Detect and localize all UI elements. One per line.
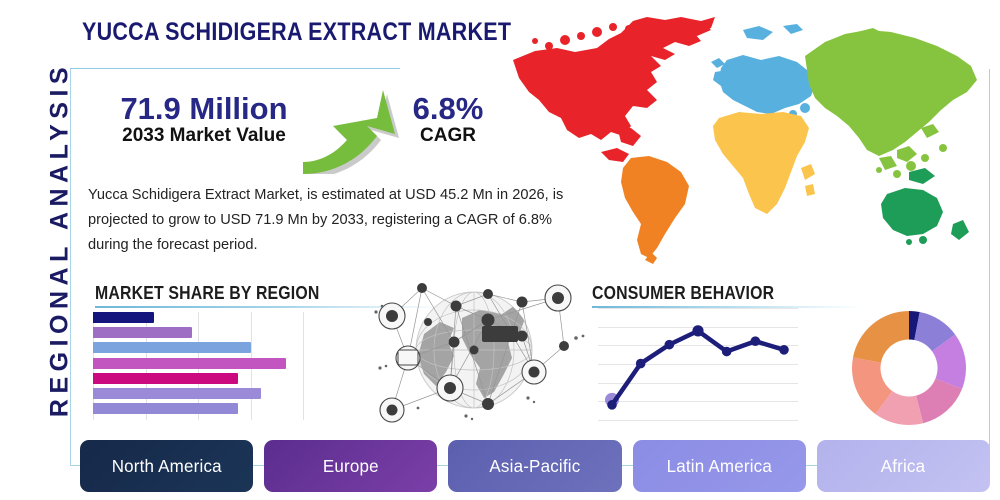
network-globe-users-icon bbox=[362, 276, 590, 428]
bar-fill bbox=[93, 403, 238, 414]
region-tab-label: North America bbox=[112, 456, 222, 477]
map-region-south-america bbox=[621, 156, 689, 264]
region-tab-africa[interactable]: Africa bbox=[817, 440, 990, 492]
bar-fill bbox=[93, 342, 251, 353]
bar-chart-bar bbox=[93, 327, 192, 338]
bar-fill bbox=[93, 358, 286, 369]
bar-chart-bar bbox=[93, 358, 286, 369]
region-tab-north-america[interactable]: North America bbox=[80, 440, 253, 492]
page-title: YUCCA SCHIDIGERA EXTRACT MARKET bbox=[82, 18, 511, 47]
kpi-market-value-caption: 2033 Market Value bbox=[88, 125, 320, 147]
region-tabs[interactable]: North AmericaEuropeAsia-PacificLatin Ame… bbox=[80, 440, 990, 492]
region-tab-label: Africa bbox=[881, 456, 926, 477]
map-region-oceania bbox=[881, 168, 969, 245]
bar-chart-bar bbox=[93, 403, 238, 414]
consumer-behavior-line-chart bbox=[598, 308, 798, 420]
region-tab-latin-america[interactable]: Latin America bbox=[633, 440, 806, 492]
bar-fill bbox=[93, 373, 238, 384]
line-data-point bbox=[607, 400, 617, 410]
bar-chart-bar bbox=[93, 342, 251, 353]
map-region-asia bbox=[805, 28, 977, 178]
region-tab-label: Latin America bbox=[667, 456, 772, 477]
vertical-side-label: REGIONAL ANALYSIS bbox=[0, 0, 62, 500]
region-tab-label: Europe bbox=[323, 456, 379, 477]
line-chart-series bbox=[598, 308, 798, 420]
kpi-row: 71.9 Million 2033 Market Value 6.8% CAGR bbox=[88, 92, 508, 172]
bar-fill bbox=[93, 327, 192, 338]
world-map-icon bbox=[505, 8, 995, 273]
map-region-europe bbox=[711, 24, 815, 118]
line-data-point bbox=[636, 359, 646, 369]
region-tab-europe[interactable]: Europe bbox=[264, 440, 437, 492]
donut-chart-slices bbox=[848, 307, 970, 429]
growth-arrow-up-icon bbox=[300, 82, 408, 174]
kpi-market-value: 71.9 Million 2033 Market Value bbox=[88, 92, 320, 147]
bar-gridline bbox=[303, 312, 304, 420]
map-region-africa bbox=[713, 112, 815, 214]
line-data-point bbox=[665, 340, 675, 350]
region-tab-asia-pacific[interactable]: Asia-Pacific bbox=[448, 440, 621, 492]
market-share-bar-chart bbox=[93, 312, 303, 420]
section-header-consumer-behavior: CONSUMER BEHAVIOR bbox=[592, 283, 774, 304]
line-data-point bbox=[751, 336, 761, 346]
line-data-point bbox=[722, 347, 732, 357]
region-tab-label: Asia-Pacific bbox=[490, 456, 581, 477]
donut-slice bbox=[853, 311, 909, 363]
map-region-north-america bbox=[513, 17, 715, 172]
bar-fill bbox=[93, 312, 154, 323]
bar-fill bbox=[93, 388, 261, 399]
line-data-point bbox=[779, 345, 789, 355]
line-gridline bbox=[598, 420, 798, 421]
bar-chart-bar bbox=[93, 388, 261, 399]
kpi-market-value-number: 71.9 Million bbox=[88, 92, 320, 125]
section-header-market-share: MARKET SHARE BY REGION bbox=[95, 283, 319, 304]
bar-chart-bar bbox=[93, 373, 238, 384]
bar-chart-bar bbox=[93, 312, 154, 323]
consumer-behavior-donut-chart bbox=[848, 307, 970, 429]
line-data-point bbox=[692, 325, 703, 336]
